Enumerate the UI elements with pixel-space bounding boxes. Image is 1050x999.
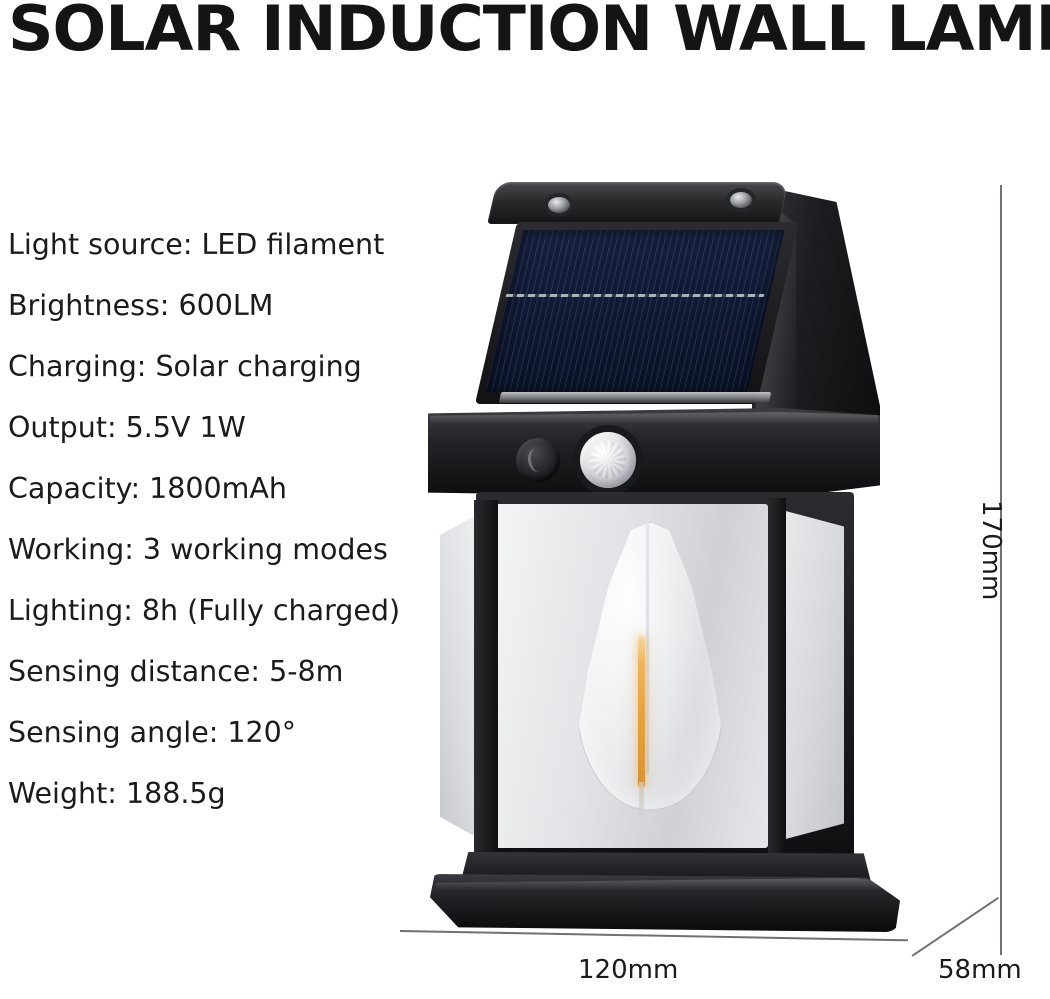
spec-brightness: Brightness: 600LM	[8, 275, 438, 336]
spec-light-source: Light source: LED filament	[8, 214, 438, 275]
page-title: SOLAR INDUCTION WALL LAMP	[8, 0, 1050, 66]
glass-pane-left	[440, 516, 474, 836]
dimension-label-depth: 58mm	[938, 955, 1022, 985]
dimension-label-width: 120mm	[578, 955, 678, 985]
dimension-label-height: 170mm	[976, 500, 1006, 600]
lantern-mullion-right	[768, 498, 786, 854]
lantern-mullion-left	[474, 500, 498, 852]
led-filament-tip	[639, 782, 644, 816]
product-image-solar-wall-lamp	[400, 170, 980, 930]
glass-pane-right	[782, 510, 844, 840]
spec-output: Output: 5.5V 1W	[8, 397, 438, 458]
dimension-line-width	[400, 930, 908, 941]
pir-motion-sensor-icon	[580, 432, 636, 488]
specification-list: Light source: LED filament Brightness: 6…	[8, 214, 438, 824]
mounting-screw-icon	[730, 192, 752, 208]
spec-sensing-distance: Sensing distance: 5-8m	[8, 641, 438, 702]
spec-capacity: Capacity: 1800mAh	[8, 458, 438, 519]
solar-panel-busbar	[506, 294, 765, 297]
spec-lighting: Lighting: 8h (Fully charged)	[8, 580, 438, 641]
spec-weight: Weight: 188.5g	[8, 763, 438, 824]
solar-panel-lip	[499, 392, 772, 403]
led-filament	[638, 636, 645, 788]
spec-charging: Charging: Solar charging	[8, 336, 438, 397]
spec-working: Working: 3 working modes	[8, 519, 438, 580]
solar-panel	[485, 230, 784, 392]
spec-sensing-angle: Sensing angle: 120°	[8, 702, 438, 763]
bulb-glass-stem	[646, 516, 649, 774]
mounting-screw-icon	[548, 197, 570, 213]
